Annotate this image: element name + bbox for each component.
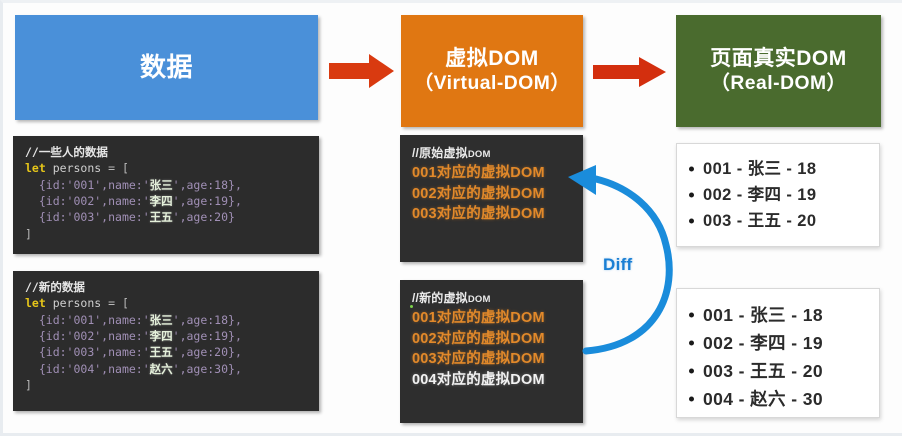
vdom-title-suffix: DOM xyxy=(468,294,491,305)
code-assign: = [ xyxy=(101,296,129,310)
vdom-row: 003对应的虚拟DOM xyxy=(412,349,583,370)
real-dom-list-new: 001 - 张三 - 18 002 - 李四 - 19 003 - 王五 - 2… xyxy=(676,288,880,418)
list-item: 002 - 李四 - 19 xyxy=(703,182,879,208)
code-person-name: 赵六 xyxy=(150,362,173,376)
code-close-bracket: ] xyxy=(25,227,32,241)
data-box-label: 数据 xyxy=(140,52,193,84)
code-line-prefix: {id:'004',name:' xyxy=(39,362,150,376)
code-person-name: 李四 xyxy=(150,194,173,208)
real-dom-box-label-line2: （Real-DOM） xyxy=(711,72,847,96)
virtual-dom-box-label-line2: （Virtual-DOM） xyxy=(414,72,570,96)
data-box: 数据 xyxy=(15,15,318,120)
code-block-old-data: //一些人的数据 let persons = [ {id:'001',name:… xyxy=(13,136,319,254)
vdom-panel-new-title: //新的虚拟DOM xyxy=(412,289,583,306)
diff-label: Diff xyxy=(603,255,633,275)
code-line-prefix: {id:'001',name:' xyxy=(39,178,150,192)
code-line-suffix: ',age:20} xyxy=(173,210,235,224)
vdom-row: 001对应的虚拟DOM xyxy=(412,308,583,329)
code-line-prefix: {id:'002',name:' xyxy=(39,194,150,208)
list-item: 001 - 张三 - 18 xyxy=(703,156,879,182)
code-person-name: 张三 xyxy=(150,313,173,327)
list-new-items: 001 - 张三 - 18 002 - 李四 - 19 003 - 王五 - 2… xyxy=(677,301,879,413)
red-arrow-data-to-vdom xyxy=(329,53,395,94)
code-line-suffix: ',age:18}, xyxy=(173,178,242,192)
vdom-row-added: 004对应的虚拟DOM xyxy=(412,370,583,391)
code-close-bracket: ] xyxy=(25,378,32,392)
green-dot-icon xyxy=(410,305,413,308)
code-keyword: let xyxy=(25,296,46,310)
real-dom-list-original: 001 - 张三 - 18 002 - 李四 - 19 003 - 王五 - 2… xyxy=(676,143,880,247)
vdom-row: 002对应的虚拟DOM xyxy=(412,329,583,350)
code-varname: persons xyxy=(53,161,101,175)
code-person-name: 王五 xyxy=(150,345,173,359)
list-item: 004 - 赵六 - 30 xyxy=(703,385,879,413)
vdom-panel-original-title: //原始虚拟DOM xyxy=(412,144,583,161)
code-assign: = [ xyxy=(101,161,129,175)
code-line-prefix: {id:'001',name:' xyxy=(39,313,150,327)
code-line-suffix: ',age:18}, xyxy=(173,313,242,327)
red-arrow-vdom-to-rdom xyxy=(593,56,667,93)
vdom-title-suffix: DOM xyxy=(468,149,491,160)
vdom-panel-original: //原始虚拟DOM 001对应的虚拟DOM 002对应的虚拟DOM 003对应的… xyxy=(400,135,583,262)
vdom-title-main: //新的虚拟 xyxy=(412,291,468,305)
code-comment: //一些人的数据 xyxy=(25,145,108,159)
code-person-name: 李四 xyxy=(150,329,173,343)
code-comment: //新的数据 xyxy=(25,280,85,294)
list-item: 003 - 王五 - 20 xyxy=(703,208,879,234)
list-original-items: 001 - 张三 - 18 002 - 李四 - 19 003 - 王五 - 2… xyxy=(677,156,879,234)
diagram-canvas: 数据 虚拟DOM （Virtual-DOM） 页面真实DOM （Real-DOM… xyxy=(0,0,902,436)
vdom-row: 001对应的虚拟DOM xyxy=(412,163,583,184)
code-line-prefix: {id:'002',name:' xyxy=(39,329,150,343)
list-item: 003 - 王五 - 20 xyxy=(703,357,879,385)
code-varname: persons xyxy=(53,296,101,310)
list-item: 002 - 李四 - 19 xyxy=(703,329,879,357)
real-dom-box: 页面真实DOM （Real-DOM） xyxy=(676,15,881,127)
code-keyword: let xyxy=(25,161,46,175)
vdom-title-main: //原始虚拟 xyxy=(412,146,468,160)
code-line-prefix: {id:'003',name:' xyxy=(39,345,150,359)
code-line-suffix: ',age:30}, xyxy=(173,362,242,376)
vdom-row: 002对应的虚拟DOM xyxy=(412,184,583,205)
code-person-name: 王五 xyxy=(150,210,173,224)
vdom-row: 003对应的虚拟DOM xyxy=(412,204,583,225)
real-dom-box-label-line1: 页面真实DOM xyxy=(710,46,847,72)
virtual-dom-box: 虚拟DOM （Virtual-DOM） xyxy=(401,15,583,127)
code-block-new-data: //新的数据 let persons = [ {id:'001',name:'张… xyxy=(13,271,319,411)
code-line-suffix: ',age:19}, xyxy=(173,329,242,343)
list-item: 001 - 张三 - 18 xyxy=(703,301,879,329)
code-line-suffix: ',age:19}, xyxy=(173,194,242,208)
code-person-name: 张三 xyxy=(150,178,173,192)
virtual-dom-box-label-line1: 虚拟DOM xyxy=(445,46,539,72)
vdom-panel-new: //新的虚拟DOM 001对应的虚拟DOM 002对应的虚拟DOM 003对应的… xyxy=(400,280,583,423)
code-line-suffix: ',age:20}, xyxy=(173,345,242,359)
code-line-prefix: {id:'003',name:' xyxy=(39,210,150,224)
